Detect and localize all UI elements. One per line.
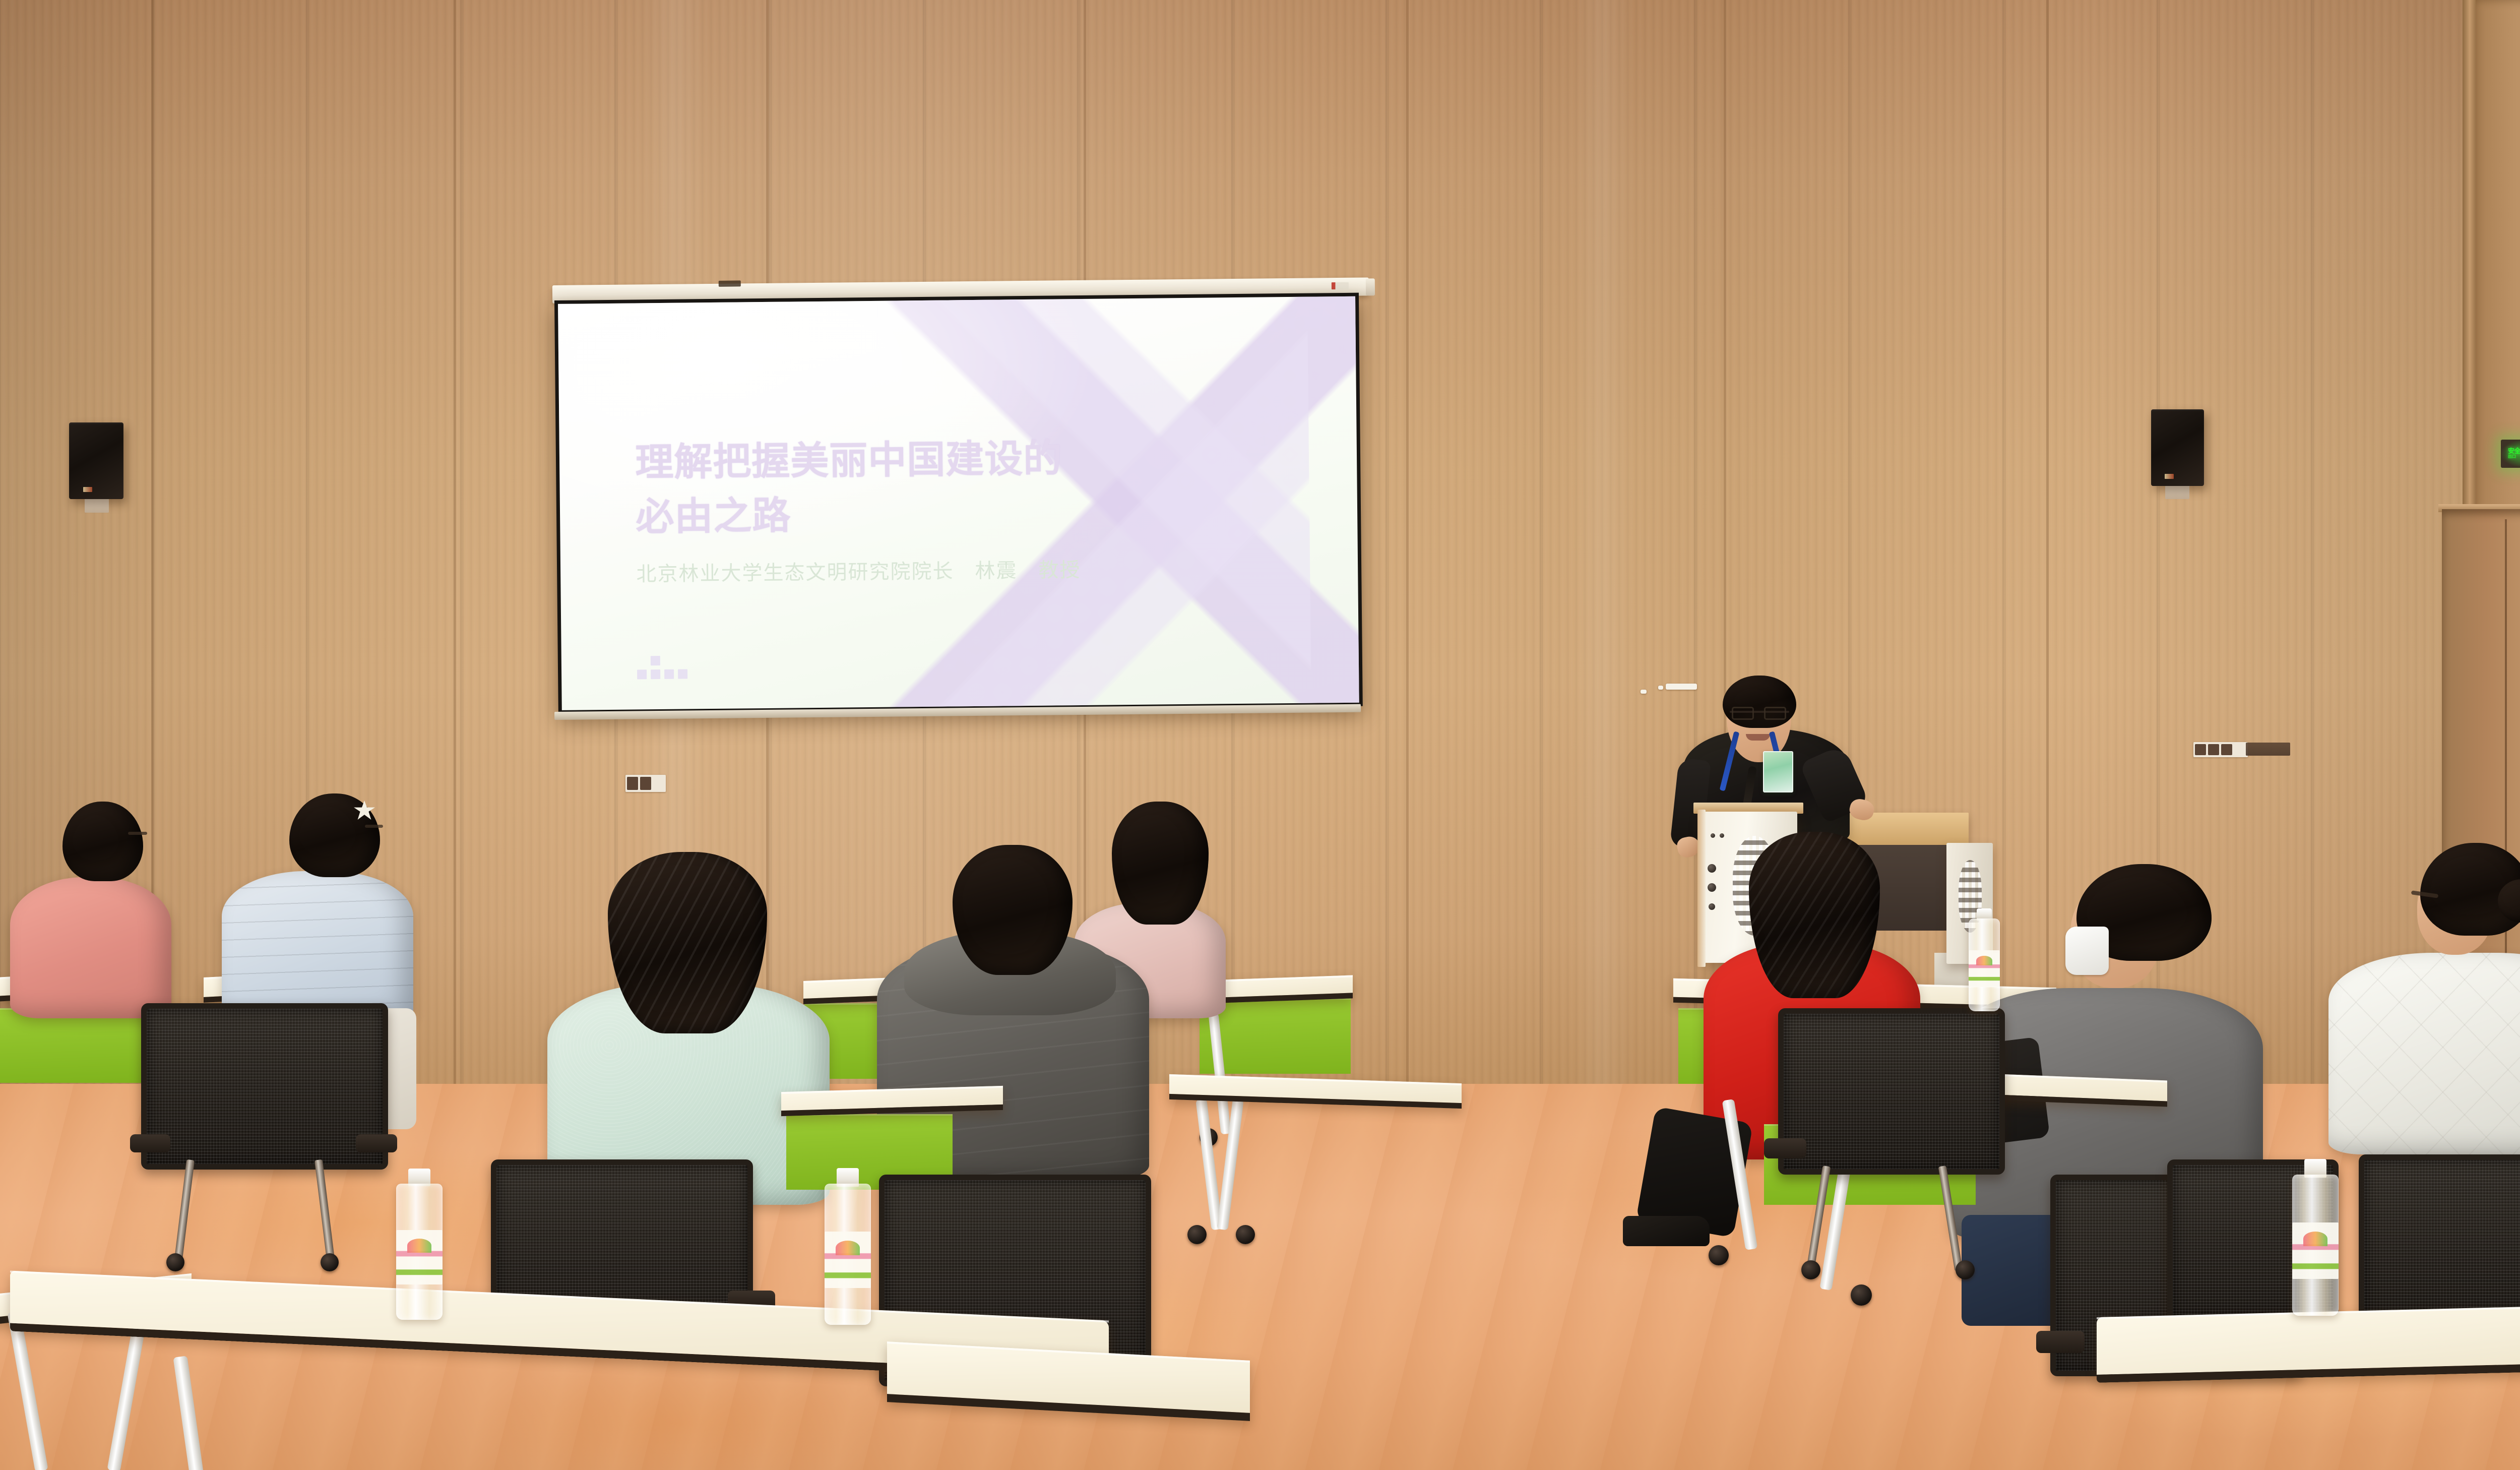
slide-title: 理解把握美丽中国建设的 必由之路 <box>635 430 1194 544</box>
chair-caster <box>1956 1260 1975 1279</box>
attendee-torso <box>2328 953 2520 1154</box>
chair-caster <box>1801 1260 1820 1279</box>
presenter-glasses-left-lens <box>1732 707 1754 720</box>
wall-hook <box>1658 686 1663 690</box>
slide-title-line-2: 必由之路 <box>636 484 1194 544</box>
attendee-pink-top <box>10 802 171 1013</box>
chair-backrest[interactable] <box>141 1003 388 1170</box>
chair-backrest[interactable] <box>1778 1008 2005 1175</box>
attendee-hair <box>608 852 767 1033</box>
chair-armrest <box>356 1134 397 1152</box>
table-caster <box>1187 1225 1207 1244</box>
wall-speaker-left <box>69 422 123 499</box>
lecture-room-photo: 安全出口 理解把握美丽中国建设的 必由之路 北京林业大学生态文明研究院院长 林 <box>0 0 2520 1470</box>
bottle-label <box>2292 1222 2339 1279</box>
presenter-glasses-right-lens <box>1764 707 1786 720</box>
attendee-white-quilted <box>2328 837 2520 1159</box>
table-caster <box>1851 1284 1872 1306</box>
bottle-label <box>396 1230 443 1284</box>
chair-armrest <box>130 1134 170 1152</box>
wall-speaker-right <box>2151 409 2204 486</box>
bottle-label <box>825 1232 871 1288</box>
table-caster <box>1236 1225 1255 1244</box>
presenter-hair <box>1723 676 1796 728</box>
attendee-glasses <box>128 832 147 835</box>
screen-endcap <box>1366 278 1375 295</box>
slide-title-line-1: 理解把握美丽中国建设的 <box>635 430 1193 490</box>
water-bottle[interactable] <box>825 1184 871 1325</box>
attendee-hair <box>953 845 1073 975</box>
wall-outlet-under-screen[interactable] <box>625 775 666 792</box>
attendee-torso <box>10 877 171 1018</box>
wall-highlight <box>1572 0 1633 1099</box>
water-bottle[interactable] <box>2292 1175 2339 1316</box>
screen-bracket <box>719 280 741 286</box>
attendee-boot <box>1623 1216 1710 1246</box>
attendee-glasses <box>365 825 383 828</box>
table-modesty-panel <box>0 1008 151 1083</box>
exit-sign-label-cn: 安全出口 <box>2508 448 2520 459</box>
chair-backrest[interactable] <box>2359 1154 2520 1331</box>
wall-outlet-row-right[interactable] <box>2193 742 2248 757</box>
chair-armrest <box>1764 1138 1806 1158</box>
attendee-torso <box>222 871 413 1022</box>
attendee-hair <box>62 802 143 881</box>
slide-surface: 理解把握美丽中国建设的 必由之路 北京林业大学生态文明研究院院长 林震 教授 <box>558 296 1359 710</box>
water-bottle[interactable] <box>1969 918 2000 1011</box>
wall-hook <box>1641 690 1647 694</box>
table-caster <box>1709 1245 1729 1265</box>
face-mask <box>2065 927 2109 975</box>
foreground-table-right <box>2097 1304 2520 1383</box>
screen-frame: 理解把握美丽中国建设的 必由之路 北京林业大学生态文明研究院院长 林震 教授 <box>554 293 1363 714</box>
presenter-mouth <box>1746 734 1770 741</box>
attendee-blue-puffer <box>222 797 413 1018</box>
water-bottle[interactable] <box>396 1184 443 1320</box>
speaker-mount-right <box>2165 484 2189 499</box>
bottle-label <box>1969 950 2000 988</box>
chair-caster <box>321 1253 339 1271</box>
screen-brand-label <box>1332 282 1349 289</box>
wall-seam <box>454 0 456 1099</box>
presenter-name-badge <box>1763 751 1793 792</box>
slide-logo <box>637 655 687 679</box>
projection-screen: 理解把握美丽中国建设的 必由之路 北京林业大学生态文明研究院院长 林震 教授 <box>552 285 1369 716</box>
chair-armrest <box>2036 1331 2085 1353</box>
attendee-hair <box>1749 832 1880 998</box>
wall-seam <box>1406 0 1409 1099</box>
wall-panel-right <box>2246 743 2290 756</box>
exit-sign: 安全出口 <box>2501 440 2520 468</box>
chair-caster <box>166 1253 184 1271</box>
